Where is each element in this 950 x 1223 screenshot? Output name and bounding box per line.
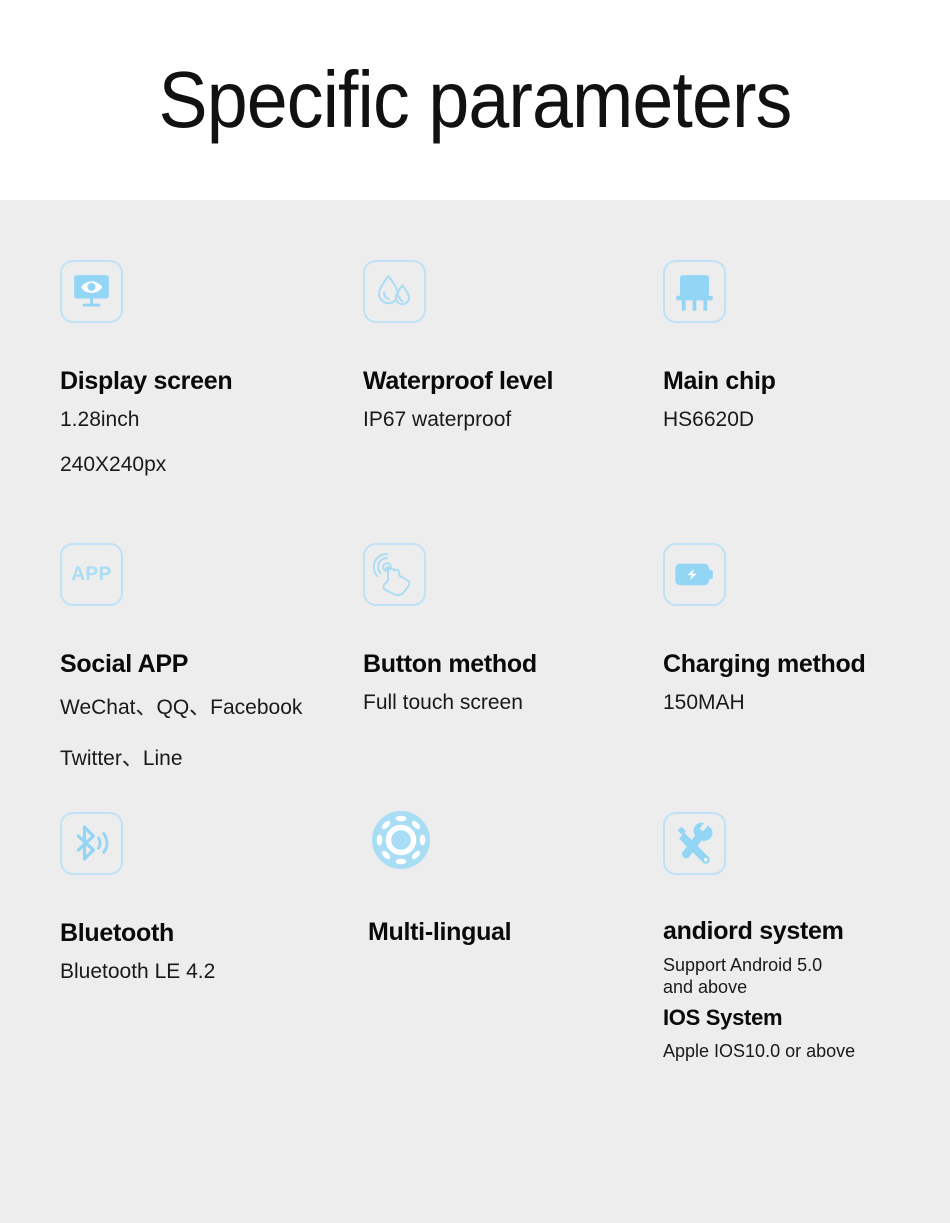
- touch-hand-icon: [363, 543, 426, 606]
- spec-line: WeChat、QQ、Facebook: [60, 691, 360, 721]
- spec-item-operating-system: andiord system Support Android 5.0 and a…: [663, 812, 950, 1063]
- spec-title: Multi-lingual: [368, 918, 658, 947]
- spec-grid: Display screen 1.28inch 240X240px Waterp…: [0, 200, 950, 1223]
- spec-title: Button method: [363, 650, 653, 679]
- spec-line: 150MAH: [663, 691, 950, 715]
- spec-line: and above: [663, 977, 950, 999]
- page-header: Specific parameters: [0, 0, 950, 200]
- spec-item-multi-lingual: Multi-lingual: [368, 807, 658, 947]
- display-monitor-eye-icon: [60, 260, 123, 323]
- spec-title: Display screen: [60, 367, 350, 396]
- spec-item-waterproof-level: Waterproof level IP67 waterproof: [363, 260, 653, 432]
- spec-title: Waterproof level: [363, 367, 653, 396]
- spec-line: 1.28inch: [60, 408, 350, 432]
- spec-line: Full touch screen: [363, 691, 653, 715]
- spec-title: Bluetooth: [60, 919, 350, 948]
- spec-title: Charging method: [663, 650, 950, 679]
- spec-line: Apple IOS10.0 or above: [663, 1041, 950, 1063]
- spec-line: Bluetooth LE 4.2: [60, 960, 350, 984]
- bluetooth-icon: [60, 812, 123, 875]
- spec-line: IP67 waterproof: [363, 408, 653, 432]
- battery-charging-icon: [663, 543, 726, 606]
- spec-item-main-chip: Main chip HS6620D: [663, 260, 950, 432]
- page-title: Specific parameters: [159, 60, 792, 140]
- spec-item-button-method: Button method Full touch screen: [363, 543, 653, 715]
- spec-title: Main chip: [663, 367, 950, 396]
- spec-item-charging-method: Charging method 150MAH: [663, 543, 950, 715]
- spec-line: Twitter、Line: [60, 742, 360, 772]
- tools-wrench-screwdriver-icon: [663, 812, 726, 875]
- app-icon-label: APP: [62, 564, 121, 586]
- spec-title: Social APP: [60, 650, 360, 679]
- spec-item-display-screen: Display screen 1.28inch 240X240px: [60, 260, 350, 477]
- water-droplets-icon: [363, 260, 426, 323]
- spec-line: 240X240px: [60, 453, 350, 477]
- spec-item-bluetooth: Bluetooth Bluetooth LE 4.2: [60, 812, 350, 984]
- chip-icon: [663, 260, 726, 323]
- spec-line: Support Android 5.0: [663, 955, 950, 977]
- spec-title: andiord system: [663, 917, 950, 946]
- spec-line: HS6620D: [663, 408, 950, 432]
- spec-item-social-app: APP Social APP WeChat、QQ、Facebook Twitte…: [60, 543, 360, 772]
- app-text-icon: APP: [60, 543, 123, 606]
- spec-title-secondary: IOS System: [663, 1005, 950, 1031]
- globe-language-icon: [368, 807, 434, 873]
